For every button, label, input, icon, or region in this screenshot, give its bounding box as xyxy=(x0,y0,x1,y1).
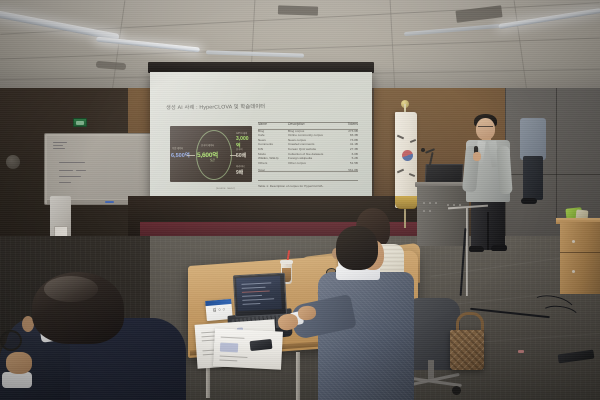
infographic-right-bottom-value: 9배 xyxy=(236,169,243,176)
table-header-row: Name Description Tokens xyxy=(258,122,358,127)
cell-description: Korean QnA website xyxy=(288,147,316,151)
cell-description: Collection of five datasets xyxy=(288,152,323,156)
taeguk-symbol xyxy=(402,150,413,161)
wall-clock-icon xyxy=(6,155,20,169)
cell-description: Crawled comments xyxy=(288,142,314,146)
presenter-hand xyxy=(473,152,481,161)
cell-tokens: 41.1B xyxy=(342,142,358,146)
cell-tokens: 27.3B xyxy=(342,147,358,151)
marker-icon xyxy=(105,201,114,203)
placard-name-text: 김 ○ ○ xyxy=(206,306,232,314)
infographic-left-label: 학습 데이터 xyxy=(172,146,183,150)
presenter-leg-separation xyxy=(487,212,489,250)
cup-lid xyxy=(280,260,293,264)
table-header-name: Name xyxy=(258,122,267,126)
cell-name: Comments xyxy=(258,142,273,146)
microphone-head-icon xyxy=(421,148,425,152)
handout-papers xyxy=(213,328,283,370)
whiteboard xyxy=(44,133,156,205)
cell-name: Cafe xyxy=(258,133,265,137)
infographic-right-mid-label: 한국어 xyxy=(236,147,242,151)
attendee-head xyxy=(336,226,378,270)
hair-highlight xyxy=(44,276,98,302)
exit-icon xyxy=(76,121,84,125)
slide-infographic: 학습 데이터 6,500억 한국어 데이터 5,600억 토큰 GPT-3 대비… xyxy=(170,126,252,182)
cell-name: KiN xyxy=(258,147,263,151)
flag-fringe xyxy=(395,196,417,209)
foreground-attendee-hand xyxy=(6,352,32,374)
table-caption: Table 1: Description of corpus for Hyper… xyxy=(258,184,362,188)
handbag xyxy=(450,330,484,370)
handbag-pattern xyxy=(450,330,484,370)
table-row: Others Other corpus 51.5B xyxy=(258,161,358,166)
table-header-tokens: Tokens xyxy=(342,122,358,126)
cell-tokens: 83.3B xyxy=(342,133,358,137)
table-header-description: Description xyxy=(288,122,305,126)
mic-stand-pole xyxy=(466,208,468,296)
cell-name: Others xyxy=(258,161,267,165)
cell-description: Online community corpus xyxy=(288,133,323,137)
held-eyeglasses xyxy=(0,330,22,348)
glasses-lens xyxy=(0,330,22,351)
cell-name: WikiEn, WikiJp xyxy=(258,156,278,160)
presenter-shoe xyxy=(491,245,507,251)
podium xyxy=(417,186,469,246)
cell-description: News corpus xyxy=(288,138,306,142)
cabinet-knob[interactable] xyxy=(572,270,575,273)
wall-seam xyxy=(556,88,557,222)
infographic-right-mid-value: 50배 xyxy=(236,152,246,159)
infographic-center-value: 5,600억 xyxy=(197,149,218,159)
cell-name: Modu xyxy=(258,152,266,156)
cell-tokens: 73.8B xyxy=(342,138,358,142)
standing-person-shoe xyxy=(521,198,537,204)
ceiling-vent xyxy=(278,5,318,15)
suit-texture xyxy=(318,272,414,400)
foreground-shirt-cuff xyxy=(2,372,32,388)
cell-tokens: 51.5B xyxy=(342,161,358,165)
exit-sign xyxy=(73,118,87,127)
table-leg xyxy=(296,352,300,400)
attendee-laptop-screen[interactable] xyxy=(233,273,287,318)
cell-description: Other corpus xyxy=(288,161,306,165)
storage-cabinet xyxy=(560,222,600,294)
whiteboard-surface xyxy=(47,136,153,199)
placard-band xyxy=(205,299,231,306)
infographic-center-sub: 토큰 xyxy=(210,158,215,162)
standing-person-torso xyxy=(520,118,546,160)
infographic-right-bottom-label: 파라미터 xyxy=(236,164,244,168)
floor-debris xyxy=(518,350,524,353)
wall-seam xyxy=(505,174,600,175)
slide-table: Name Description Tokens Blog Blog corpus… xyxy=(258,122,358,173)
presenter-glasses xyxy=(478,126,493,130)
infographic-right-top-label: GPT-3 대비 xyxy=(236,131,247,135)
seminar-room-photo: 생성 AI 사례 : HyperCLOVA 및 학습데이터 학습 데이터 6,5… xyxy=(0,0,600,400)
cell-name: News xyxy=(258,138,266,142)
cell-tokens: 6.0B xyxy=(342,152,358,156)
standing-person-legs xyxy=(523,156,543,200)
cell-description: Foreign wikipedia xyxy=(288,156,312,160)
chair-caster xyxy=(452,386,461,395)
cell-tokens: 5.2B xyxy=(342,156,358,160)
presenter-shoe xyxy=(469,246,484,252)
infographic-center-label: 한국어 데이터 xyxy=(201,143,214,147)
cabinet-knob[interactable] xyxy=(572,240,575,243)
slide-source-note: (source: naver) xyxy=(216,186,235,190)
laptop-display xyxy=(236,276,282,311)
